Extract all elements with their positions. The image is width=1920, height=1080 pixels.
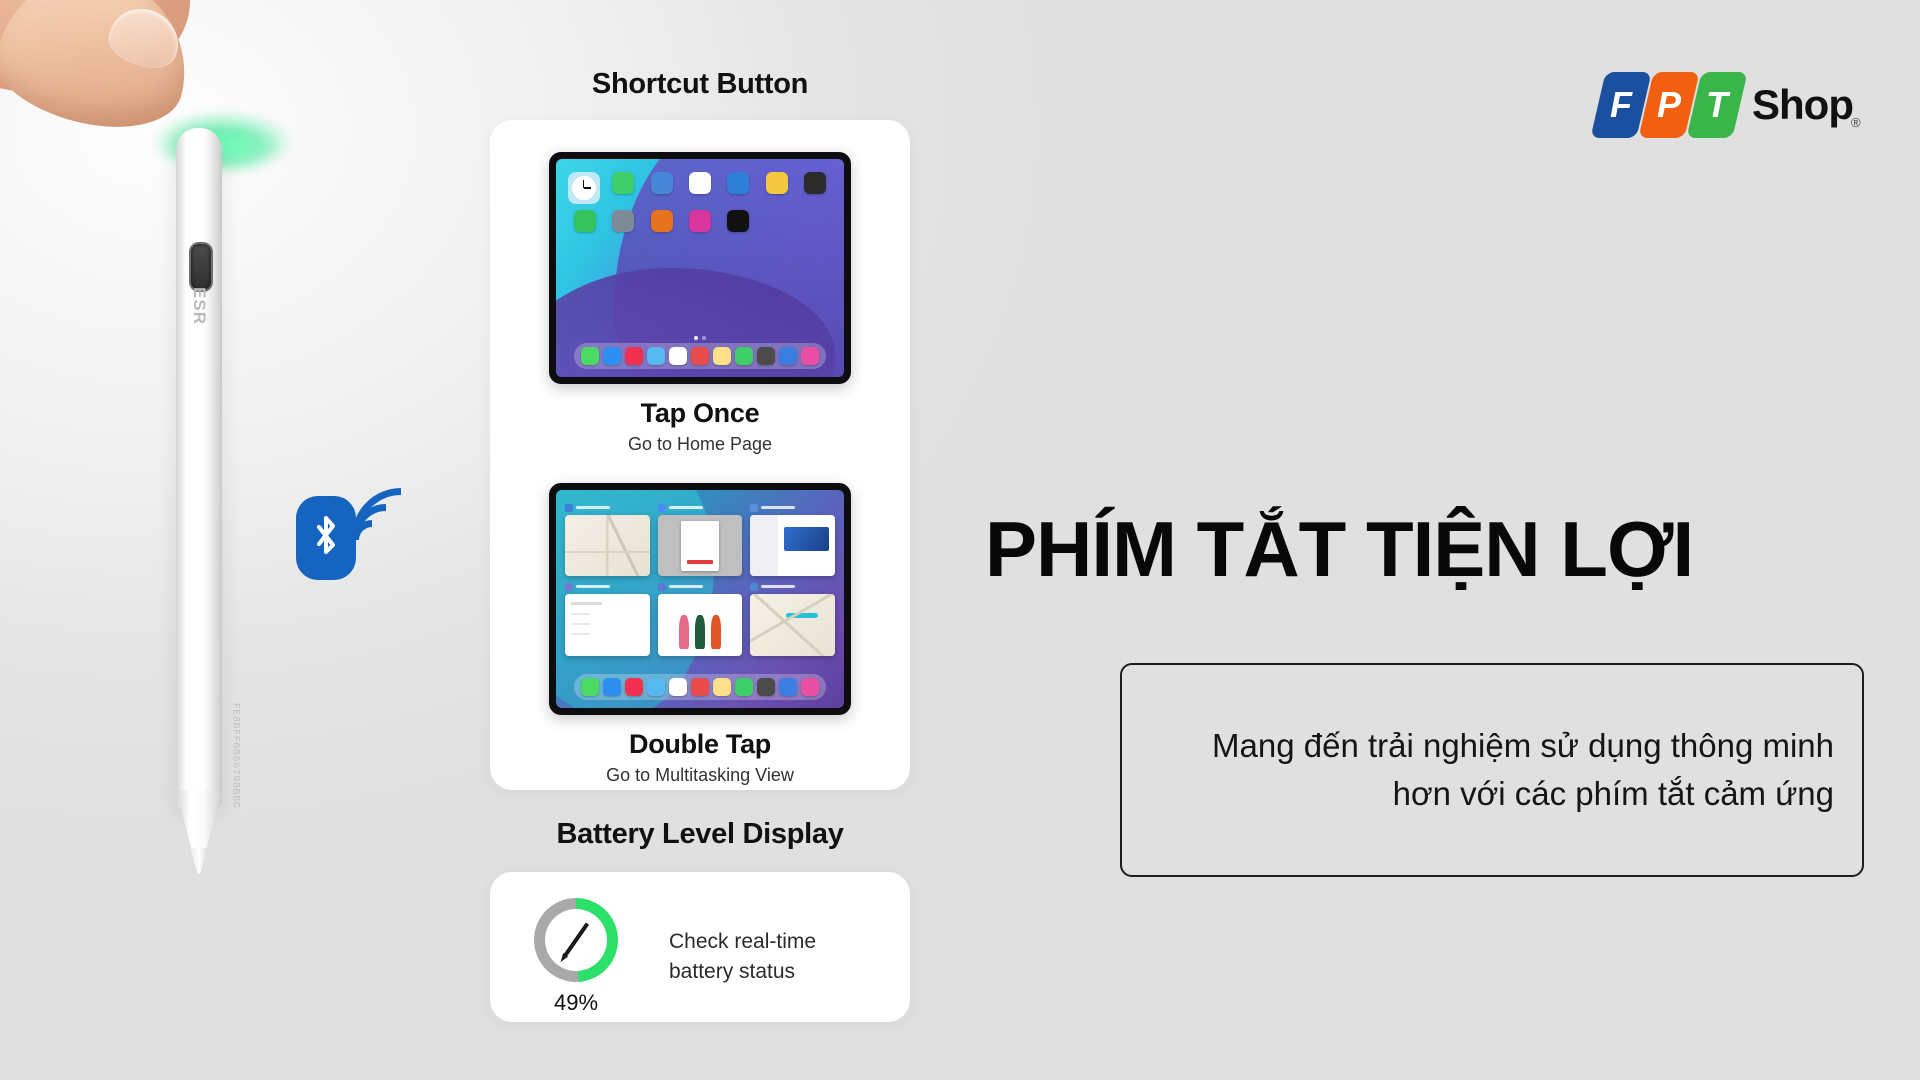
window-title-bar [669, 585, 703, 588]
window-app-icon [658, 504, 666, 512]
logo-letter-f: F [1598, 72, 1644, 138]
bluetooth-icon [296, 496, 356, 580]
multitask-window-card[interactable] [565, 582, 650, 655]
tap-once-sub: Go to Home Page [490, 434, 910, 455]
home-dock [574, 343, 826, 369]
app-icon[interactable] [612, 172, 634, 194]
window-preview[interactable] [658, 594, 743, 655]
app-icon[interactable] [727, 172, 749, 194]
poster-canvas: ESR FE8BFF0866798BBC Shortcut Button Tap… [0, 0, 1920, 1080]
window-preview[interactable] [565, 594, 650, 655]
window-title-bar [576, 585, 610, 588]
page-dot[interactable] [694, 336, 698, 340]
shortcut-button-title: Shortcut Button [490, 68, 910, 101]
tablet-home-screen [549, 152, 851, 384]
logo-letter-p: P [1646, 72, 1692, 138]
logo-letter-t: T [1694, 72, 1740, 138]
multitask-display [556, 490, 844, 708]
dock-app-icon[interactable] [713, 678, 731, 696]
stylus-tip-icon [190, 848, 208, 874]
stylus-brand-label: ESR [189, 278, 209, 334]
window-header [750, 503, 835, 512]
art-figure [695, 615, 704, 649]
window-title-bar [576, 506, 610, 509]
app-icon[interactable] [766, 172, 788, 194]
page-dots [694, 336, 706, 340]
dock-app-icon[interactable] [779, 347, 797, 365]
window-app-icon [565, 504, 573, 512]
signal-wave-icon [332, 468, 471, 607]
battery-row: 49% Check real-time battery status [490, 872, 910, 1016]
app-icon[interactable] [804, 172, 826, 194]
double-tap-label: Double Tap [490, 729, 910, 760]
multitask-window-grid [565, 503, 836, 656]
battery-level-title: Battery Level Display [490, 818, 910, 851]
dock-app-icon[interactable] [603, 678, 621, 696]
shortcut-card: Tap Once Go to Home Page Double Tap Go t… [490, 120, 910, 790]
page-dot[interactable] [702, 336, 706, 340]
dock-app-icon[interactable] [801, 347, 819, 365]
dock-app-icon[interactable] [581, 678, 599, 696]
dock-app-icon[interactable] [691, 678, 709, 696]
page-headline: PHÍM TẮT TIỆN LỢI [985, 510, 1885, 588]
window-title-bar [761, 585, 795, 588]
fpt-shop-logo: F P T Shop ® [1598, 72, 1861, 138]
dock-app-icon[interactable] [691, 347, 709, 365]
dock-app-icon[interactable] [581, 347, 599, 365]
dock-app-icon[interactable] [713, 347, 731, 365]
window-header [658, 582, 743, 591]
window-title-bar [761, 506, 795, 509]
app-icon[interactable] [574, 210, 596, 232]
logo-shop-word: Shop [1752, 81, 1853, 129]
subtitle-text: Mang đến trải nghiệm sử dụng thông minh … [1122, 722, 1862, 818]
multitask-dock [574, 674, 826, 700]
window-preview[interactable] [750, 594, 835, 655]
app-icon[interactable] [689, 172, 711, 194]
dock-app-icon[interactable] [669, 347, 687, 365]
stylus-serial-label: FE8BFF0866798BBC [230, 661, 241, 851]
app-icon[interactable] [727, 210, 749, 232]
battery-status-text: Check real-time battery status [669, 927, 816, 988]
window-preview[interactable] [658, 515, 743, 576]
art-figure [679, 615, 688, 649]
dock-app-icon[interactable] [757, 678, 775, 696]
tap-once-label: Tap Once [490, 398, 910, 429]
multitask-window-card[interactable] [750, 582, 835, 655]
multitask-window-card[interactable] [750, 503, 835, 576]
app-icon[interactable] [612, 210, 634, 232]
battery-gauge [534, 898, 618, 982]
app-icon[interactable] [689, 210, 711, 232]
window-header [750, 582, 835, 591]
double-tap-sub: Go to Multitasking View [490, 765, 910, 786]
registered-mark: ® [1851, 115, 1861, 130]
battery-text-line2: battery status [669, 957, 816, 987]
home-app-grid [568, 172, 833, 232]
window-app-icon [565, 583, 573, 591]
dock-app-icon[interactable] [625, 678, 643, 696]
multitask-window-card[interactable] [565, 503, 650, 576]
dock-app-icon[interactable] [779, 678, 797, 696]
stylus-body [176, 128, 222, 808]
battery-card: 49% Check real-time battery status [490, 872, 910, 1022]
window-header [565, 582, 650, 591]
bluetooth-glyph [311, 513, 341, 563]
window-preview[interactable] [565, 515, 650, 576]
tablet-multitask-screen [549, 483, 851, 715]
multitask-window-card[interactable] [658, 503, 743, 576]
dock-app-icon[interactable] [735, 347, 753, 365]
subtitle-box: Mang đến trải nghiệm sử dụng thông minh … [1120, 663, 1864, 877]
art-figure [711, 615, 720, 649]
window-app-icon [658, 583, 666, 591]
battery-text-line1: Check real-time [669, 927, 816, 957]
dock-app-icon[interactable] [625, 347, 643, 365]
window-app-icon [750, 504, 758, 512]
dock-app-icon[interactable] [647, 347, 665, 365]
window-app-icon [750, 583, 758, 591]
stylus-cone [176, 790, 222, 856]
app-icon[interactable] [651, 172, 673, 194]
home-screen-display [556, 159, 844, 377]
stylus-gauge-icon [563, 922, 589, 957]
multitask-window-card[interactable] [658, 582, 743, 655]
app-icon[interactable] [651, 210, 673, 232]
battery-percent: 49% [513, 990, 639, 1016]
window-header [658, 503, 743, 512]
dock-app-icon[interactable] [801, 678, 819, 696]
dock-app-icon[interactable] [735, 678, 753, 696]
window-title-bar [669, 506, 703, 509]
app-icon-clock[interactable] [568, 172, 600, 204]
window-header [565, 503, 650, 512]
window-preview[interactable] [750, 515, 835, 576]
dock-app-icon[interactable] [669, 678, 687, 696]
dock-app-icon[interactable] [647, 678, 665, 696]
dock-app-icon[interactable] [757, 347, 775, 365]
dock-app-icon[interactable] [603, 347, 621, 365]
